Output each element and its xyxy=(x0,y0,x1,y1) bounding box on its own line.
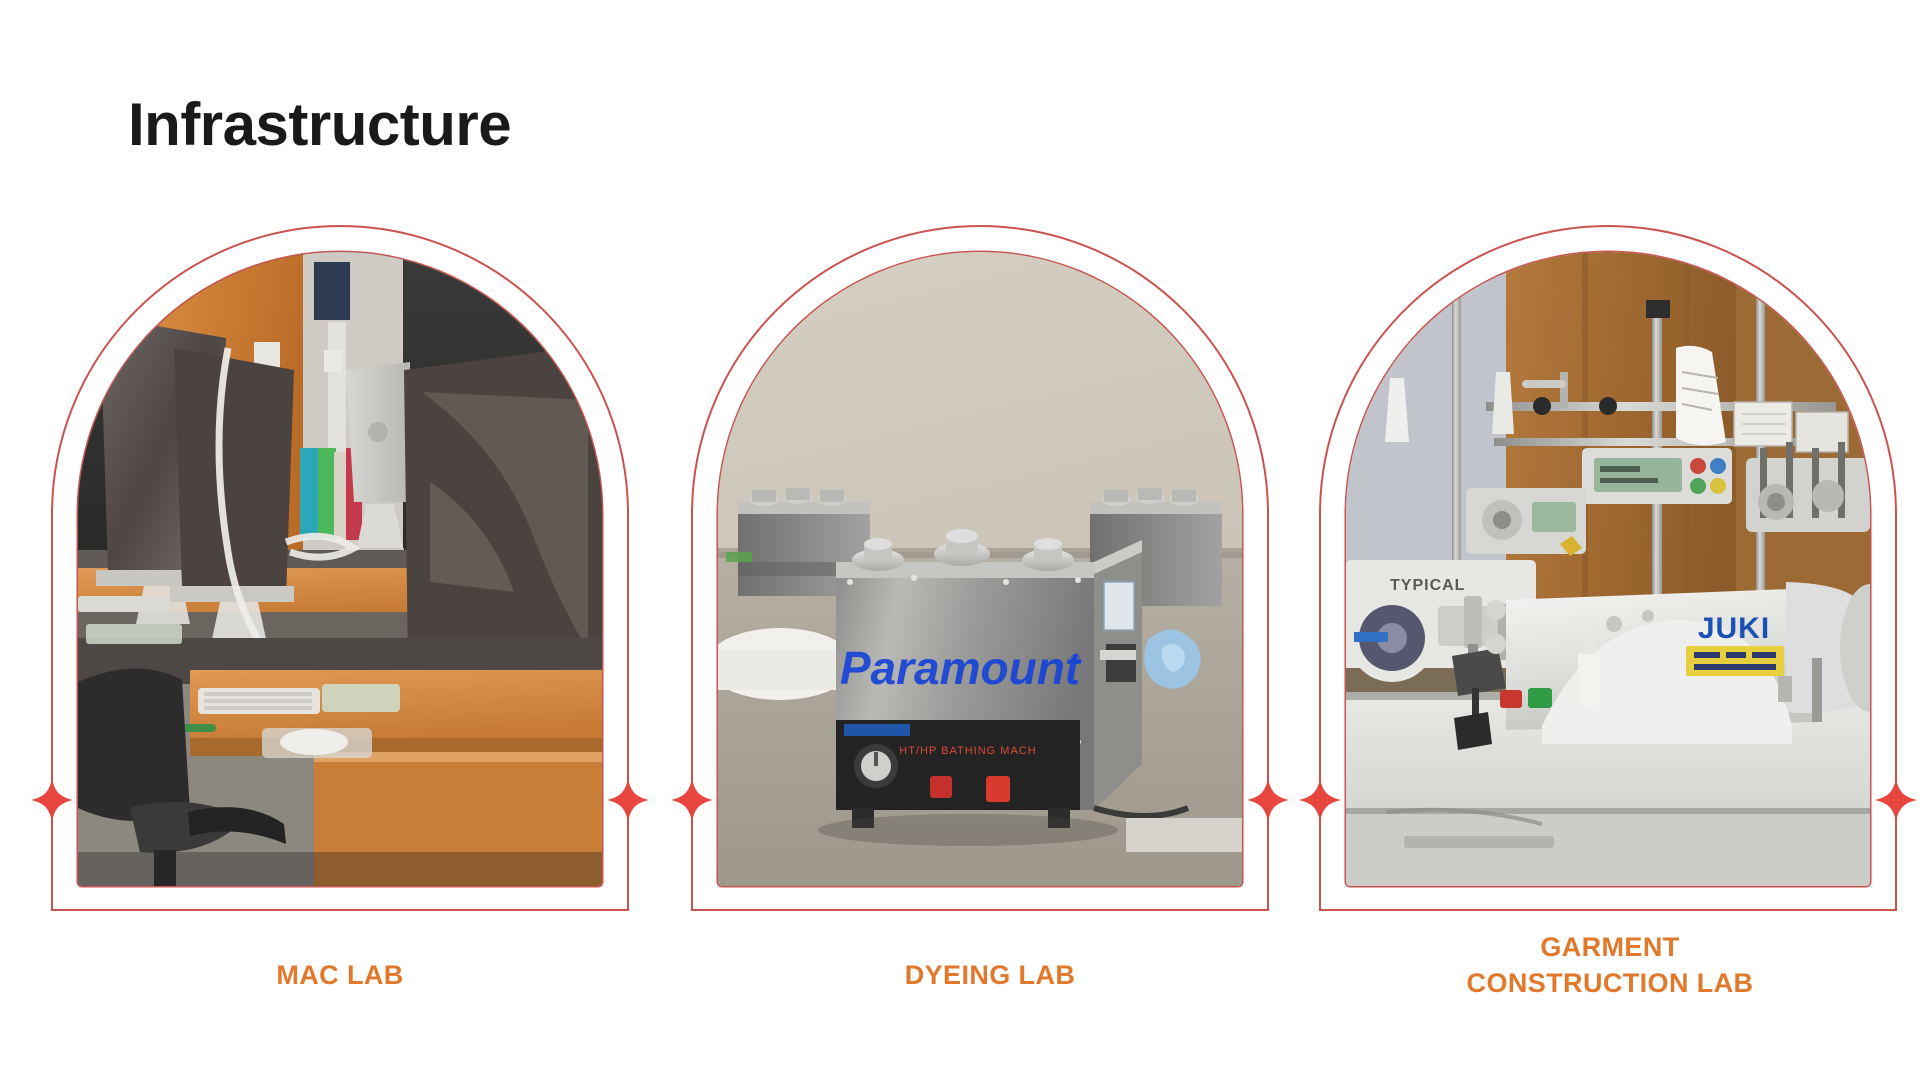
svg-text:Paramount: Paramount xyxy=(840,642,1082,694)
card-caption-line: GARMENT xyxy=(1310,930,1910,966)
card-caption: GARMENT CONSTRUCTION LAB xyxy=(1310,930,1910,1001)
card-caption: MAC LAB xyxy=(40,958,640,994)
svg-text:HT/HP BATHING MACH: HT/HP BATHING MACH xyxy=(899,745,1036,757)
svg-text:TYPICAL: TYPICAL xyxy=(1390,577,1465,594)
sparkle-icon xyxy=(670,778,714,822)
slide-root: Infrastructure xyxy=(0,0,1920,1080)
dyeing-lab-photo: Paramount ® HT/HP BATHING MACH xyxy=(718,252,1242,886)
card-caption-line: DYEING LAB xyxy=(690,958,1290,994)
card-image-frame: Paramount ® HT/HP BATHING MACH xyxy=(718,252,1242,886)
svg-text:®: ® xyxy=(1070,651,1081,667)
infrastructure-card[interactable]: Paramount ® HT/HP BATHING MACH xyxy=(690,222,1270,922)
infrastructure-card[interactable]: TYPICAL xyxy=(1318,222,1898,922)
sparkle-icon xyxy=(1874,778,1918,822)
card-caption: DYEING LAB xyxy=(690,958,1290,994)
sparkle-icon xyxy=(1246,778,1290,822)
card-caption-line: CONSTRUCTION LAB xyxy=(1310,966,1910,1002)
infrastructure-card[interactable] xyxy=(50,222,630,922)
card-image-frame: TYPICAL xyxy=(1346,252,1870,886)
infrastructure-card-row: Paramount ® HT/HP BATHING MACH xyxy=(0,0,1920,1080)
svg-text:JUKI: JUKI xyxy=(1698,612,1770,645)
card-caption-line: MAC LAB xyxy=(40,958,640,994)
sparkle-icon xyxy=(1298,778,1342,822)
sparkle-icon xyxy=(30,778,74,822)
mac-lab-photo xyxy=(78,252,602,886)
card-image-frame xyxy=(78,252,602,886)
sparkle-icon xyxy=(606,778,650,822)
garment-construction-lab-photo: TYPICAL xyxy=(1346,252,1870,886)
